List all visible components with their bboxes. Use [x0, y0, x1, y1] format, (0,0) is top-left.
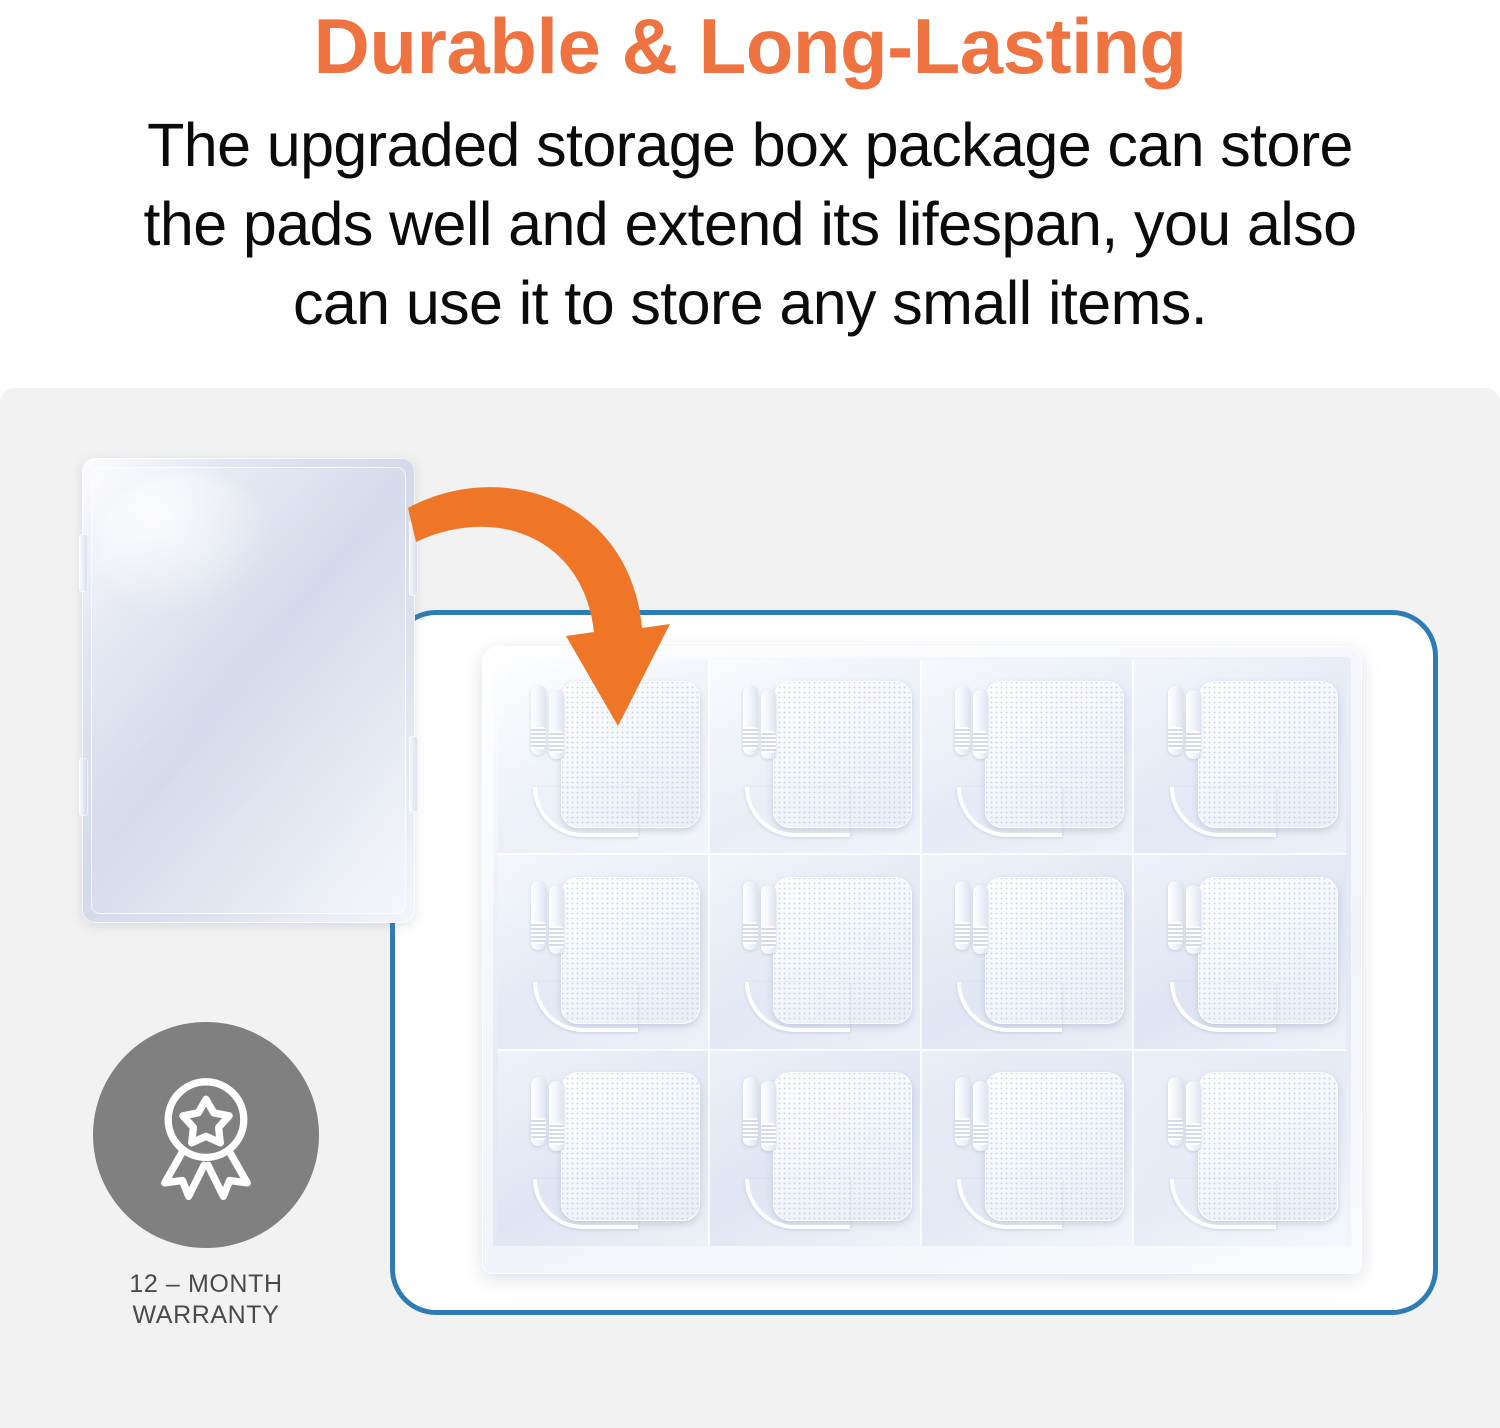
pad-lead-connector: [1186, 885, 1201, 954]
pad-lead-wire: [1170, 982, 1276, 1032]
header-section: Durable & Long-Lasting The upgraded stor…: [0, 0, 1500, 388]
pad-lead-connector: [955, 686, 970, 755]
warranty-line-1: 12 – MONTH: [93, 1269, 319, 1300]
tens-electrode-pad: [773, 877, 912, 1024]
pad-lead-wire: [533, 1179, 638, 1229]
storage-box-lid: [82, 458, 415, 923]
warranty-badge-circle: [93, 1022, 319, 1248]
pad-lead-wire: [1170, 787, 1276, 837]
tray-compartment: [710, 660, 922, 855]
pad-lead-wire: [957, 982, 1062, 1032]
pad-lead-connector: [531, 881, 546, 950]
subcopy-line-1: The upgraded storage box package can sto…: [50, 106, 1450, 185]
pad-lead-connector: [761, 690, 776, 759]
pad-lead-connector: [973, 885, 988, 954]
pad-lead-connector: [1168, 686, 1183, 755]
pad-lead-connector: [1168, 1077, 1183, 1147]
product-feature-image: Durable & Long-Lasting The upgraded stor…: [0, 0, 1500, 1428]
award-ribbon-star-icon: [136, 1065, 276, 1205]
pad-lead-connector: [1186, 690, 1201, 759]
tens-electrode-pad: [1198, 681, 1338, 828]
tens-electrode-pad: [561, 1072, 700, 1220]
pad-lead-connector: [743, 686, 758, 755]
tray-compartment: [1134, 855, 1346, 1050]
lid-tab-left-upper: [79, 534, 88, 592]
tray-compartment: [922, 660, 1134, 855]
pad-lead-wire: [957, 787, 1062, 837]
tray-compartment: [498, 1051, 710, 1246]
pad-lead-connector: [973, 690, 988, 759]
lid-tab-left-lower: [79, 758, 88, 816]
warranty-line-2: WARRANTY: [93, 1300, 319, 1331]
pad-lead-connector: [549, 885, 564, 954]
insert-direction-arrow: [380, 460, 700, 800]
pad-lead-wire: [1170, 1179, 1276, 1229]
tens-electrode-pad: [561, 877, 700, 1024]
warranty-badge-text: 12 – MONTH WARRANTY: [93, 1269, 319, 1331]
warranty-badge: 12 – MONTH WARRANTY: [93, 1022, 319, 1331]
pad-lead-wire: [533, 982, 638, 1032]
tens-electrode-pad: [985, 681, 1124, 828]
pad-lead-connector: [549, 1081, 564, 1151]
subcopy: The upgraded storage box package can sto…: [50, 106, 1450, 343]
headline: Durable & Long-Lasting: [0, 2, 1500, 90]
pad-lead-connector: [743, 881, 758, 950]
tens-electrode-pad: [985, 1072, 1124, 1220]
product-photo-panel: 12 – MONTH WARRANTY: [0, 388, 1500, 1428]
tray-compartment: [710, 855, 922, 1050]
tray-compartment: [922, 855, 1134, 1050]
pad-lead-wire: [745, 787, 850, 837]
pad-lead-wire: [745, 982, 850, 1032]
subcopy-line-2: the pads well and extend its lifespan, y…: [50, 185, 1450, 264]
pad-lead-connector: [743, 1077, 758, 1147]
tray-compartment: [710, 1051, 922, 1246]
tens-electrode-pad: [773, 681, 912, 828]
pad-lead-connector: [761, 1081, 776, 1151]
tray-compartment: [1134, 1051, 1346, 1246]
pad-lead-connector: [973, 1081, 988, 1151]
pad-lead-connector: [1186, 1081, 1201, 1151]
pad-lead-connector: [955, 881, 970, 950]
pad-lead-connector: [1168, 881, 1183, 950]
tens-electrode-pad: [1198, 1072, 1338, 1220]
tens-electrode-pad: [985, 877, 1124, 1024]
tens-electrode-pad: [773, 1072, 912, 1220]
pad-lead-connector: [531, 1077, 546, 1147]
pad-lead-connector: [761, 885, 776, 954]
tray-compartment: [498, 855, 710, 1050]
pad-lead-wire: [745, 1179, 850, 1229]
tens-electrode-pad: [1198, 877, 1338, 1024]
tray-compartment: [922, 1051, 1134, 1246]
pad-lead-wire: [957, 1179, 1062, 1229]
subcopy-line-3: can use it to store any small items.: [50, 264, 1450, 343]
pad-lead-connector: [955, 1077, 970, 1147]
tray-compartment: [1134, 660, 1346, 855]
